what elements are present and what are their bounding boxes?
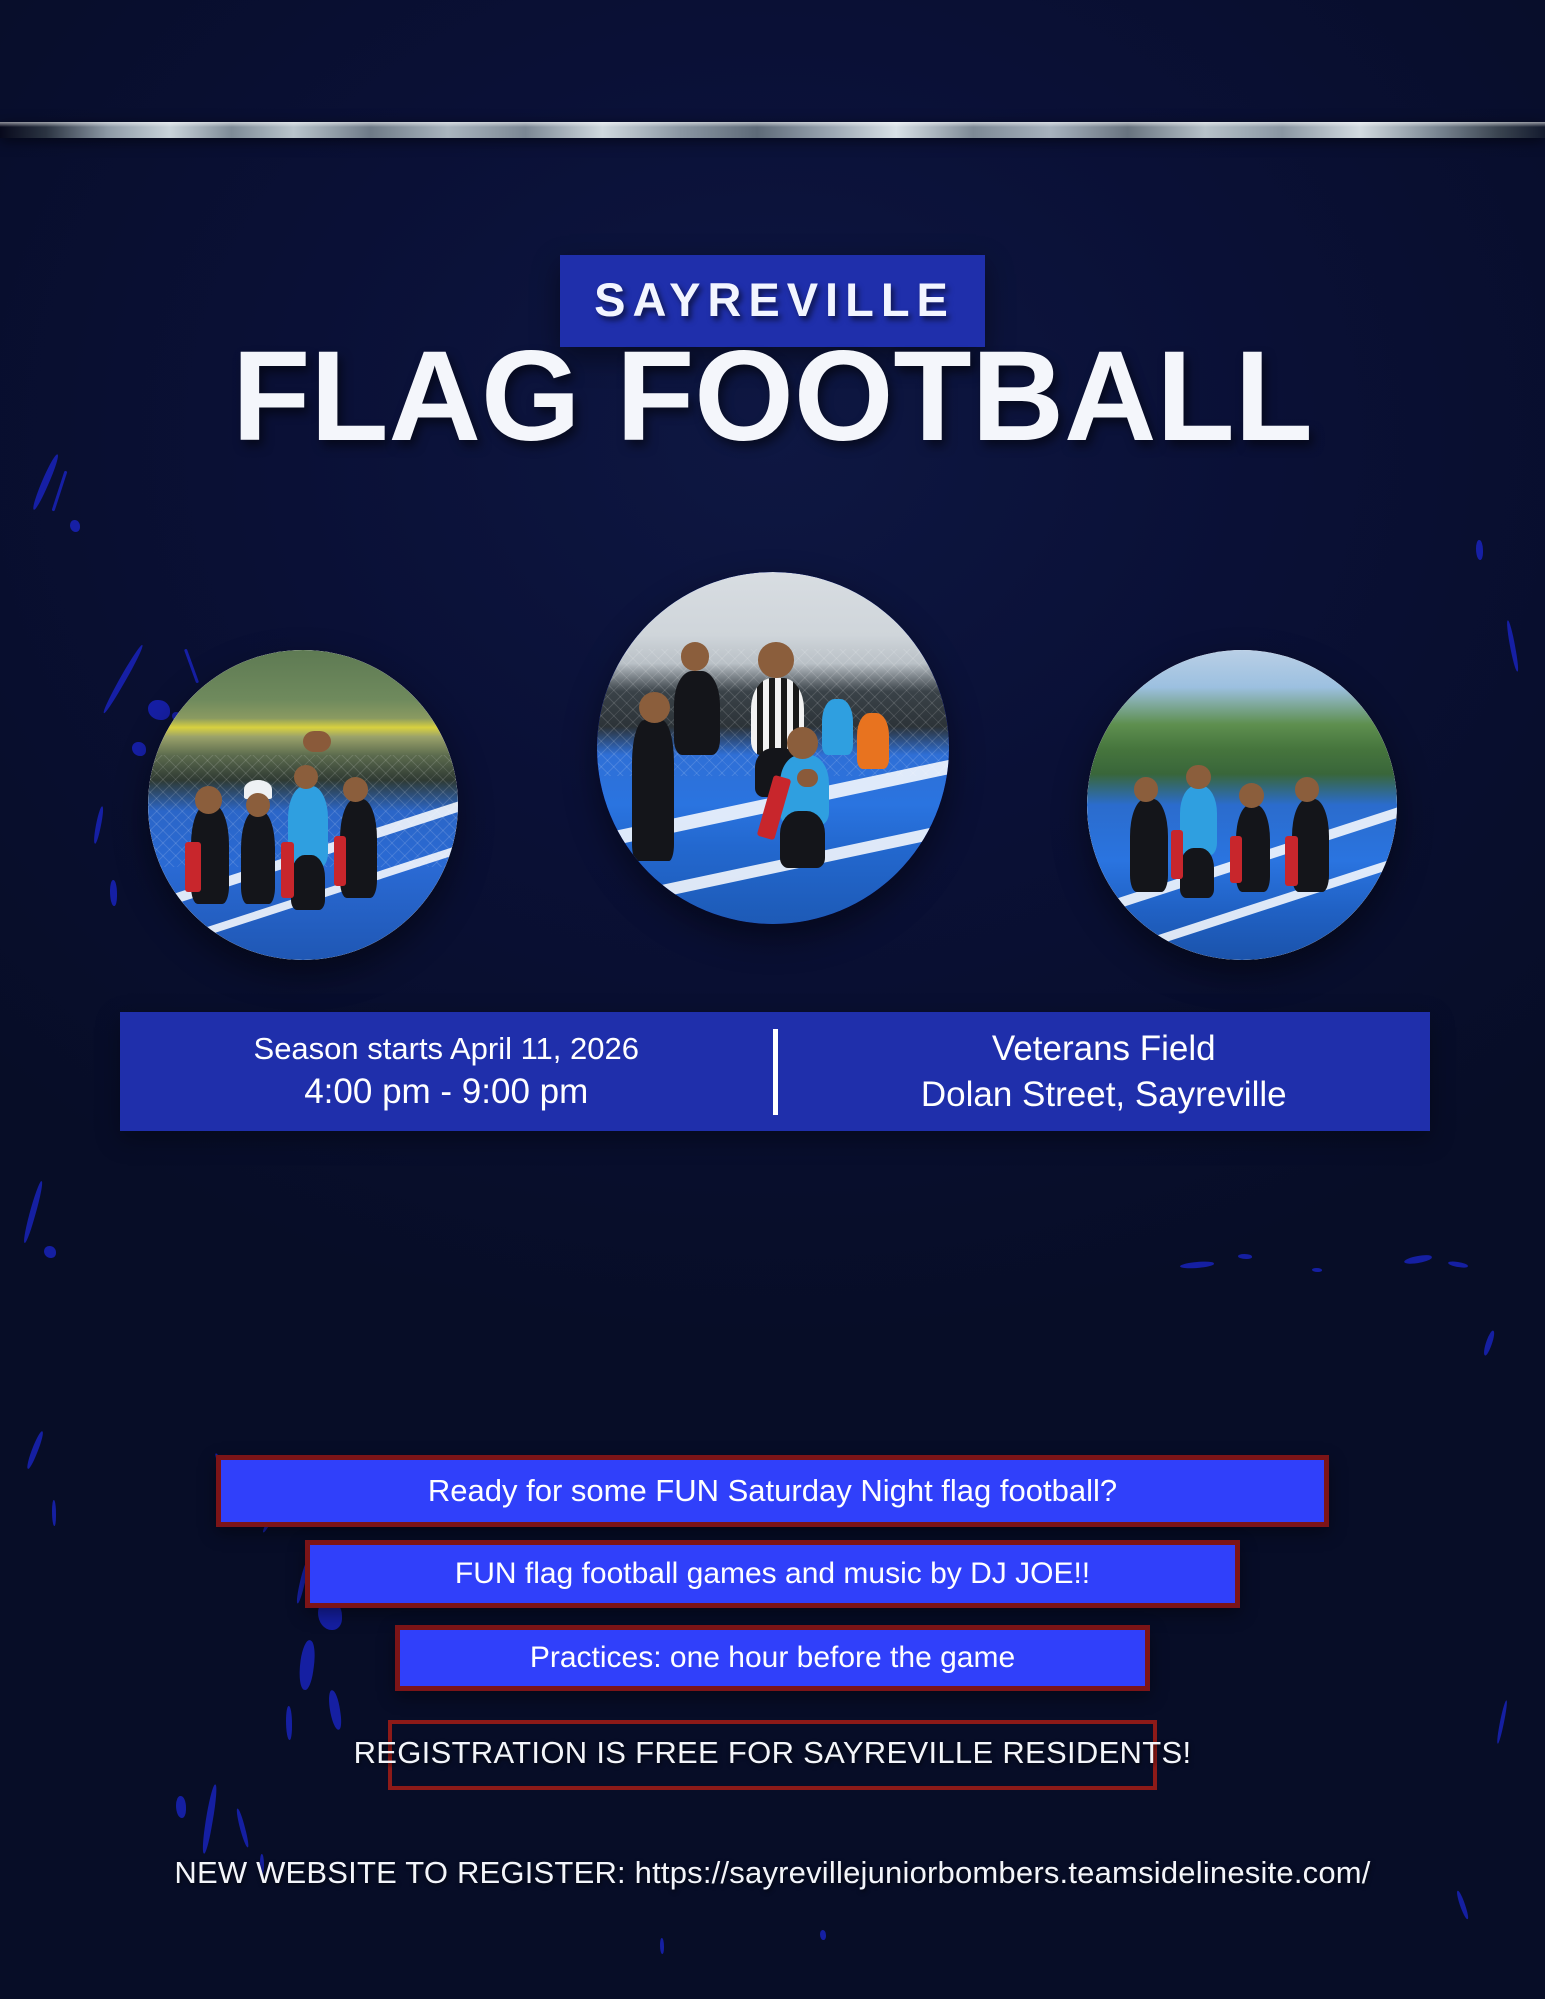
message-box-saturday-night: Ready for some FUN Saturday Night flag f… — [216, 1455, 1329, 1527]
photo-right-image — [1087, 650, 1397, 960]
venue-name-text: Veterans Field — [778, 1026, 1431, 1072]
photo-circle-left — [148, 650, 458, 960]
season-start-text: Season starts April 11, 2026 — [120, 1029, 773, 1069]
photo-circle-center — [597, 572, 949, 924]
photo-circle-group — [0, 570, 1545, 990]
venue-address-text: Dolan Street, Sayreville — [778, 1072, 1431, 1118]
event-date-column: Season starts April 11, 2026 4:00 pm - 9… — [120, 1029, 773, 1115]
poster-canvas: SAYREVILLE FLAG FOOTBALL — [0, 0, 1545, 1999]
register-url-line[interactable]: NEW WEBSITE TO REGISTER: https://sayrevi… — [0, 1855, 1545, 1891]
metallic-accent-strip — [0, 122, 1545, 138]
event-location-column: Veterans Field Dolan Street, Sayreville — [778, 1026, 1431, 1117]
photo-circle-right — [1087, 650, 1397, 960]
event-info-banner: Season starts April 11, 2026 4:00 pm - 9… — [120, 1012, 1430, 1131]
message-box-practices: Practices: one hour before the game — [395, 1625, 1150, 1691]
message-box-dj-joe: FUN flag football games and music by DJ … — [305, 1540, 1240, 1608]
photo-center-image — [597, 572, 949, 924]
photo-left-image — [148, 650, 458, 960]
page-title: FLAG FOOTBALL — [0, 333, 1545, 461]
registration-free-text: REGISTRATION IS FREE FOR SAYREVILLE RESI… — [0, 1735, 1545, 1771]
event-time-text: 4:00 pm - 9:00 pm — [120, 1069, 773, 1115]
